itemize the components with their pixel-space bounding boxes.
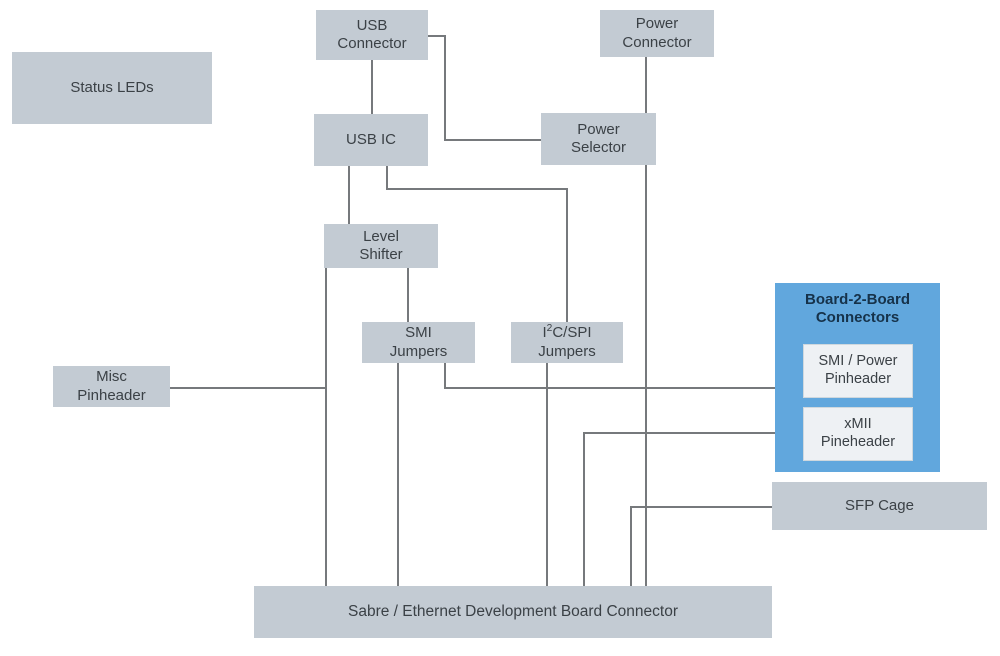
wire-usb-ic-across-to-i2c [386, 188, 568, 190]
node-usb-ic[interactable]: USB IC [314, 114, 428, 166]
wire-i2c-jumpers-to-board-connector [546, 362, 548, 587]
wire-smi-jumpers-down-to-b2b [444, 362, 446, 389]
wire-usb-connector-right-stub [427, 35, 445, 37]
group-title-board-2-board: Board-2-Board Connectors [775, 291, 940, 328]
wire-level-shifter-to-smi-jumpers [407, 267, 409, 323]
wire-into-power-selector [444, 139, 542, 141]
node-status-leds[interactable]: Status LEDs [12, 52, 212, 124]
node-smi-jumpers[interactable]: SMI Jumpers [362, 322, 475, 363]
wire-usb-ic-to-level-shifter [348, 165, 350, 225]
node-power-selector[interactable]: Power Selector [541, 113, 656, 165]
subnode-xmii-pineheader[interactable]: xMII Pineheader [803, 407, 913, 461]
wire-down-into-i2c-jumpers [566, 188, 568, 323]
node-board-connector[interactable]: Sabre / Ethernet Development Board Conne… [254, 586, 772, 638]
wire-board-connector-across-to-sfp [630, 506, 773, 508]
node-sfp-cage[interactable]: SFP Cage [772, 482, 987, 530]
wire-smi-jumpers-across-to-b2b [444, 387, 804, 389]
wire-usb-connector-to-usb-ic [371, 59, 373, 115]
node-level-shifter[interactable]: Level Shifter [324, 224, 438, 268]
wire-power-selector-to-board-connector [645, 164, 647, 587]
wire-usb-ic-down-to-i2c [386, 165, 388, 189]
wire-level-shifter-to-board-connector [325, 267, 327, 587]
wire-board-connector-up-to-xmii [583, 432, 585, 587]
wire-board-connector-up-to-sfp [630, 506, 632, 587]
node-power-connector[interactable]: Power Connector [600, 10, 714, 57]
wire-usb-connector-down [444, 35, 446, 140]
wire-misc-pinheader-to-level-shifter-bus [169, 387, 327, 389]
node-misc-pinheader[interactable]: Misc Pinheader [53, 366, 170, 407]
subnode-smi-power-pinheader[interactable]: SMI / Power Pinheader [803, 344, 913, 398]
i2c-spi-jumpers-label: I2C/SPI Jumpers [538, 324, 596, 361]
wire-power-connector-to-power-selector [645, 56, 647, 114]
block-diagram-canvas: Status LEDs USB Connector Power Connecto… [0, 0, 1000, 656]
wire-board-connector-across-to-xmii [583, 432, 804, 434]
wire-smi-jumpers-to-board-connector [397, 362, 399, 587]
group-board-2-board-connectors[interactable]: Board-2-Board Connectors SMI / Power Pin… [775, 283, 940, 472]
node-i2c-spi-jumpers[interactable]: I2C/SPI Jumpers [511, 322, 623, 363]
node-usb-connector[interactable]: USB Connector [316, 10, 428, 60]
